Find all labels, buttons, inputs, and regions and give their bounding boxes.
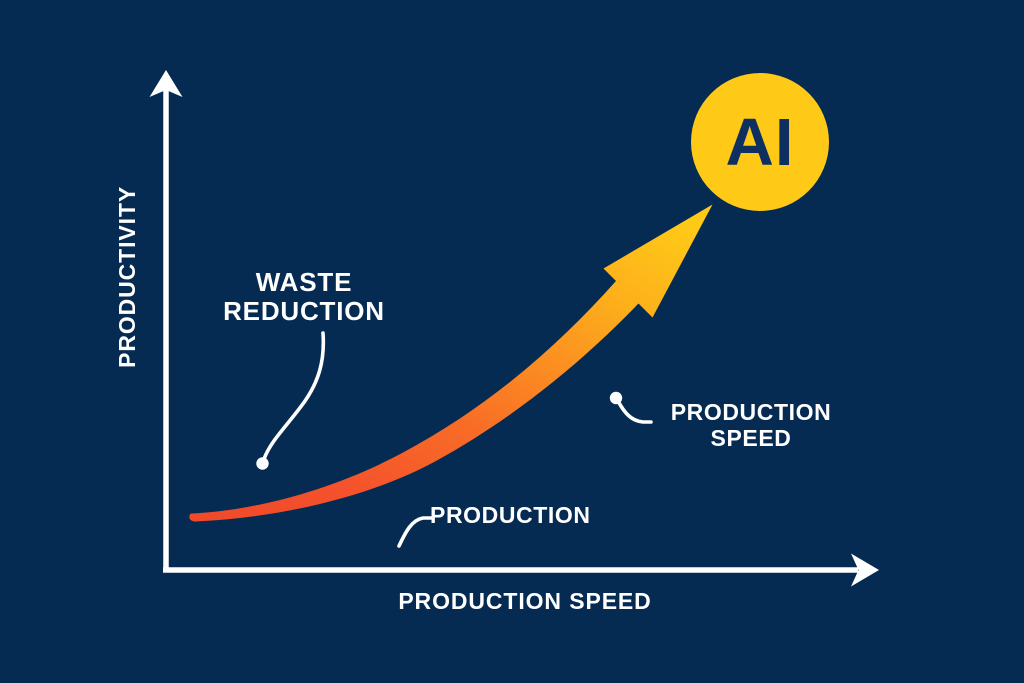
ai-badge-circle [691,73,829,211]
x-axis-label: PRODUCTION SPEED [375,589,675,615]
callout-label-production: PRODUCTION [430,503,640,529]
infographic-canvas: AI WASTE REDUCTION PRODUCTION SPEED PROD… [0,0,1024,683]
y-axis-label: PRODUCTIVITY [115,141,141,413]
callout-label-waste-reduction: WASTE REDUCTION [196,268,412,326]
ai-badge-layer [0,0,1024,683]
callout-label-production-speed: PRODUCTION SPEED [648,400,854,452]
